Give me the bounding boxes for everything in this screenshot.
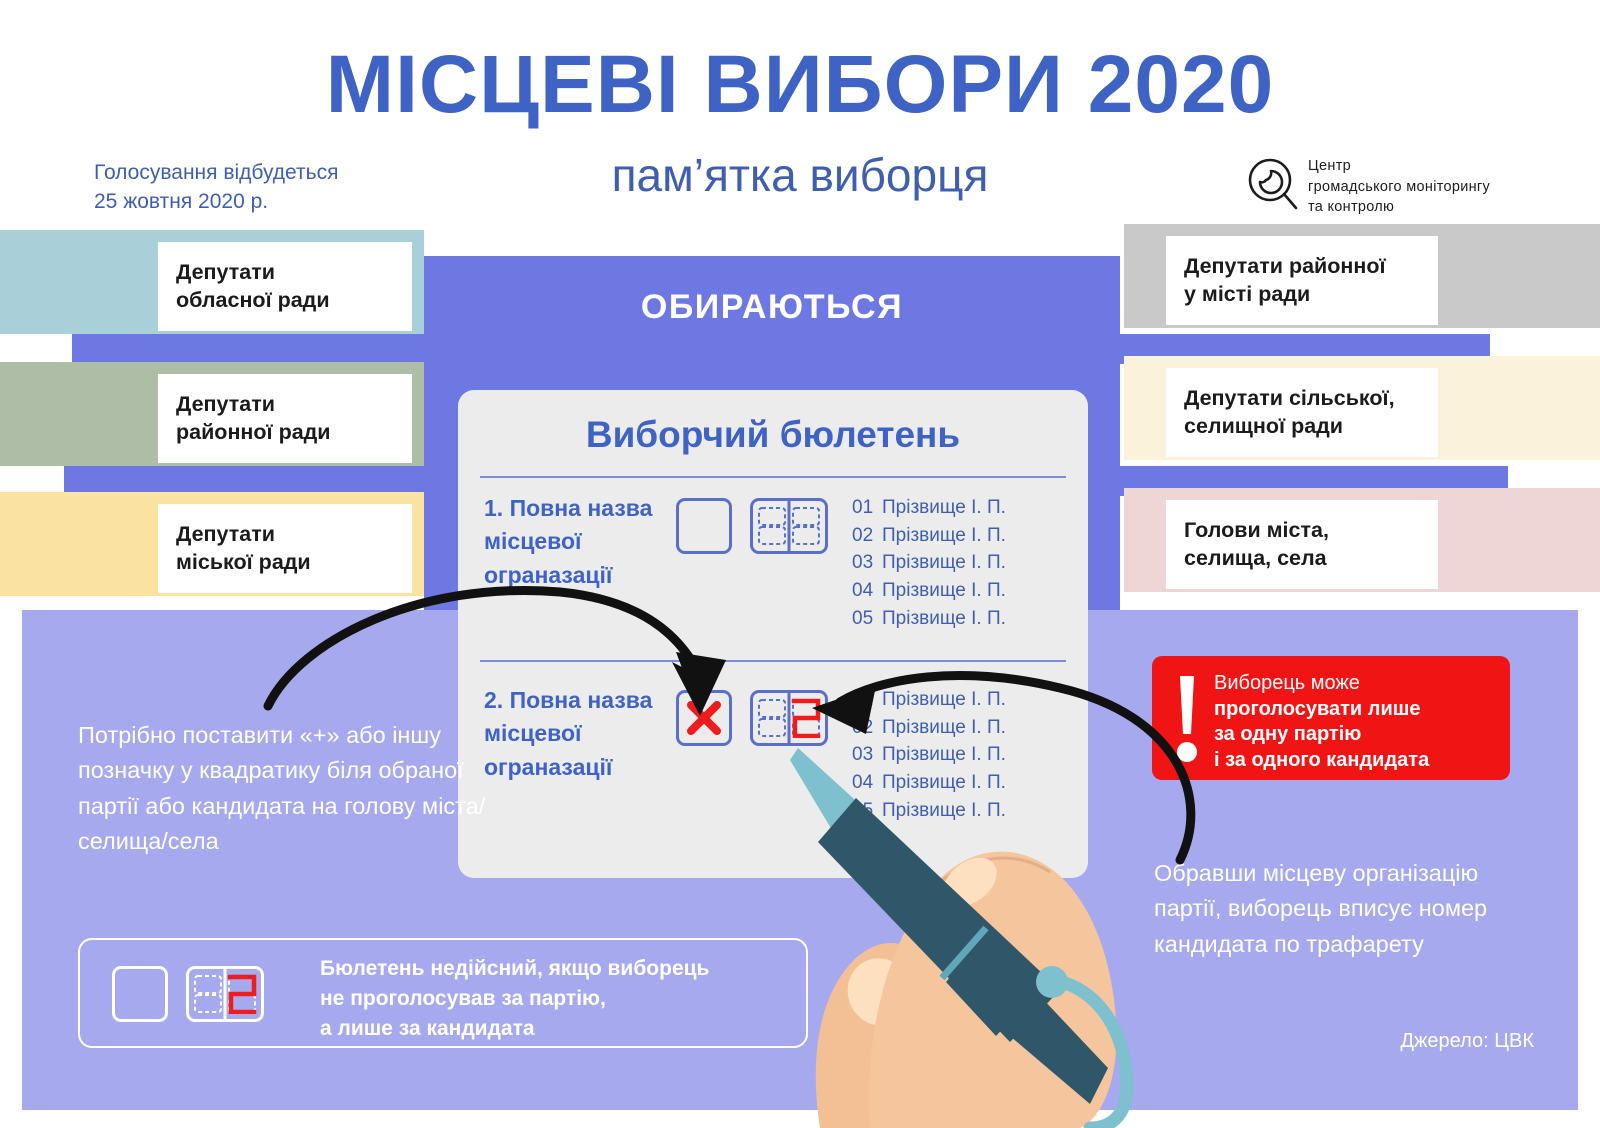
category-label: Депутати міської ради <box>158 504 412 593</box>
vote-checkbox-marked[interactable] <box>676 690 732 746</box>
stencil-cell-tens <box>193 974 223 1014</box>
category-right-rayon-in-city: Депутати районної у місті ради <box>1124 224 1600 328</box>
category-label: Депутати районної у місті ради <box>1166 236 1438 325</box>
candidate-name: Прізвище І. П. <box>882 608 1006 629</box>
category-label: Депутати районної ради <box>158 374 412 463</box>
vote-checkbox[interactable] <box>676 498 732 554</box>
connector-bar-left-1 <box>72 334 452 364</box>
party-name: 2. Повна назва місцевої ограназації <box>484 684 654 784</box>
selected-heading: ОБИРАЮТЬСЯ <box>424 288 1120 327</box>
candidate-row: 02Прізвище І. П. <box>852 522 1067 550</box>
candidate-list: 01Прізвище І. П. 02Прізвище І. П. 03Пріз… <box>852 494 1067 633</box>
warning-text: Виборець може проголосувати лише за одну… <box>1214 671 1500 773</box>
warning-line-1: Виборець може <box>1214 671 1500 697</box>
vote-checkbox-empty <box>112 966 168 1022</box>
candidate-number: 02 <box>852 522 882 550</box>
ballot-marks <box>676 498 828 554</box>
ballot-title: Виборчий бюлетень <box>458 414 1088 456</box>
warning-line-3: за одну партію <box>1214 722 1500 748</box>
vote-date: Голосування відбудеться 25 жовтня 2020 р… <box>94 158 424 217</box>
candidate-row: 05Прізвище І. П. <box>852 605 1067 633</box>
category-label: Депутати обласної ради <box>158 242 412 331</box>
category-label: Голови міста, селища, села <box>1166 500 1438 589</box>
candidate-name: Прізвище І. П. <box>882 580 1006 601</box>
warning-line-2: проголосувати лише <box>1214 697 1500 723</box>
category-left-rayon: Депутати районної ради <box>0 362 424 466</box>
stencil-cell-units <box>791 506 821 546</box>
category-label: Депутати сільської, селищної ради <box>1166 368 1438 457</box>
candidate-name: Прізвище І. П. <box>882 497 1006 518</box>
ballot-divider <box>480 476 1066 478</box>
page-title: МІСЦЕВІ ВИБОРИ 2020 <box>0 44 1600 126</box>
invalid-ballot-note: Бюлетень недійсний, якщо виборець не про… <box>78 938 808 1048</box>
candidate-number: 04 <box>852 577 882 605</box>
category-right-village: Депутати сільської, селищної ради <box>1124 356 1600 460</box>
ballot-divider <box>480 660 1066 662</box>
candidate-name: Прізвище І. П. <box>882 525 1006 546</box>
candidate-number: 01 <box>852 494 882 522</box>
candidate-name: Прізвище І. П. <box>882 552 1006 573</box>
instruction-left: Потрібно поставити «+» або іншу позначку… <box>78 718 488 859</box>
hand-with-pen-illustration <box>760 690 1220 1128</box>
category-left-oblast: Депутати обласної ради <box>0 230 424 334</box>
candidate-number: 05 <box>852 605 882 633</box>
candidate-row: 03Прізвище І. П. <box>852 549 1067 577</box>
stencil-cell-tens <box>757 506 787 546</box>
infographic-root: МІСЦЕВІ ВИБОРИ 2020 пам’ятка виборця Гол… <box>0 0 1600 1128</box>
magnifier-eye-icon <box>1246 156 1298 212</box>
candidate-number: 03 <box>852 549 882 577</box>
invalid-ballot-text: Бюлетень недійсний, якщо виборець не про… <box>320 954 790 1043</box>
candidate-number-stencil-filled <box>186 966 264 1022</box>
invalid-marks <box>112 966 264 1022</box>
category-right-mayors: Голови міста, селища, села <box>1124 488 1600 592</box>
warning-line-4: і за одного кандидата <box>1214 748 1500 774</box>
party-name: 1. Повна назва місцевої ограназації <box>484 492 654 592</box>
organization-logo: Центр громадського моніторингу та контро… <box>1246 152 1546 222</box>
logo-text: Центр громадського моніторингу та контро… <box>1308 156 1548 218</box>
candidate-row: 04Прізвище І. П. <box>852 577 1067 605</box>
candidate-number-stencil[interactable] <box>750 498 828 554</box>
category-left-city: Депутати міської ради <box>0 492 424 596</box>
candidate-row: 01Прізвище І. П. <box>852 494 1067 522</box>
stencil-cell-units-digit <box>227 974 257 1014</box>
